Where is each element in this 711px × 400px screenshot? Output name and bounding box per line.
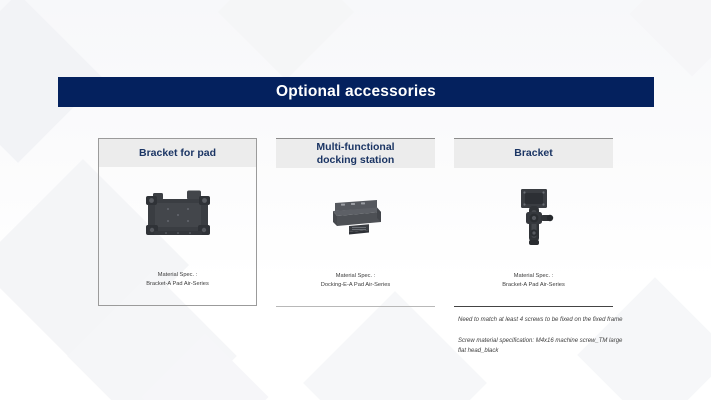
accessory-material-spec: Material Spec. : Bracket-A Pad Air-Serie… (99, 271, 256, 288)
accessory-material-spec: Material Spec. : Bracket-A Pad Air-Serie… (454, 272, 613, 289)
page-title: Optional accessories (276, 83, 436, 101)
slide-title-banner: Optional accessories (58, 77, 654, 107)
accessory-card-docking-station: Multi-functional docking station (276, 138, 435, 307)
accessory-card-title: Bracket (514, 147, 553, 159)
tablet-cradle-bracket-image (99, 183, 256, 249)
accessory-card-frame: Multi-functional docking station (276, 138, 435, 306)
accessory-card-frame: Bracket (454, 138, 613, 306)
accessory-card-body: Material Spec. : Bracket-A Pad Air-Serie… (454, 168, 613, 308)
accessory-card-bracket-for-pad: Bracket for pad (98, 138, 257, 307)
footnote-line-screw-spec: Screw material specification: M4x16 mach… (458, 337, 626, 356)
accessory-card-title: Multi-functional docking station (316, 141, 394, 165)
slide-canvas: Optional accessories Bracket for pad (0, 0, 711, 400)
docking-station-image (276, 184, 435, 250)
accessory-card-header: Bracket for pad (99, 139, 256, 167)
accessory-card-body: Material Spec. : Bracket-A Pad Air-Serie… (99, 167, 256, 307)
accessory-material-spec: Material Spec. : Docking-E-A Pad Air-Ser… (276, 272, 435, 289)
footnote-line-screw-count: Need to match at least 4 screws to be fi… (458, 316, 626, 326)
accessory-card-header: Multi-functional docking station (276, 138, 435, 168)
accessory-card-bracket: Bracket (454, 138, 613, 307)
accessory-card-frame: Bracket for pad (98, 138, 257, 306)
accessory-card-header: Bracket (454, 138, 613, 168)
screw-requirement-footnote: Need to match at least 4 screws to be fi… (458, 306, 626, 366)
accessory-card-body: Material Spec. : Docking-E-A Pad Air-Ser… (276, 168, 435, 308)
vesa-mount-bracket-image (454, 184, 613, 250)
accessory-card-title: Bracket for pad (139, 147, 216, 159)
